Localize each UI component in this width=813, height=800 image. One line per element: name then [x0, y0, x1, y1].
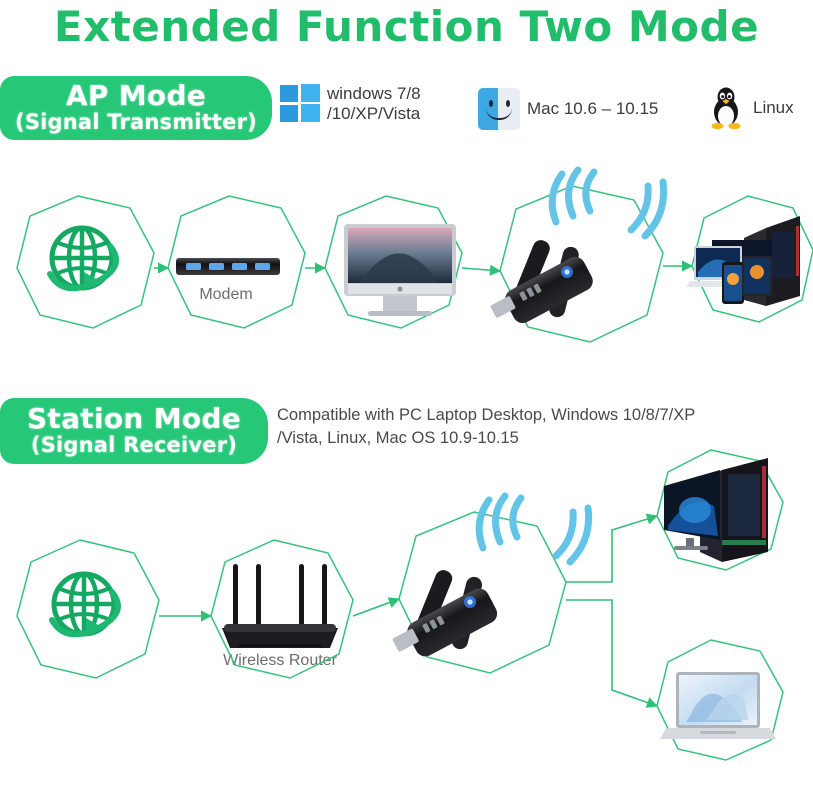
- arrow-adapter-to-laptop: [566, 600, 657, 706]
- globe-internet-icon-station: [52, 574, 118, 636]
- globe-internet-icon: [50, 228, 116, 290]
- arrow-router-to-adapter: [353, 599, 399, 616]
- wifi-wave-right-station: [556, 508, 589, 562]
- hex-node-wireless-router: [211, 540, 353, 678]
- wifi-wave-left-station: [479, 496, 521, 548]
- usb-wifi-adapter-icon-station: [392, 568, 501, 660]
- hex-node-internet-station: [17, 540, 159, 678]
- modem-device-icon: [176, 258, 280, 275]
- diagram-layer: [0, 0, 813, 800]
- gaming-desktop-pc-icon: [664, 458, 768, 562]
- hex-node-internet-ap: [17, 196, 154, 328]
- wifi-wave-left-ap-2: [586, 172, 594, 211]
- arrow-imac-to-adapter: [462, 268, 500, 271]
- infographic-canvas: Extended Function Two Mode AP Mode (Sign…: [0, 0, 813, 800]
- laptop-icon: [660, 672, 776, 739]
- imac-desktop-icon: [344, 224, 456, 316]
- wifi-wave-left-ap: [552, 170, 578, 222]
- wifi-wave-right-ap: [631, 182, 664, 236]
- wireless-router-icon: [222, 564, 338, 648]
- multi-device-cluster-icon: [686, 216, 800, 306]
